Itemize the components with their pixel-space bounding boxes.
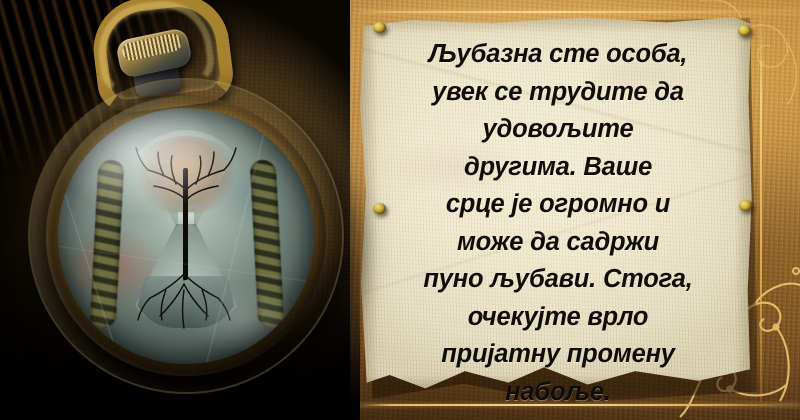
quote-line: пуно љубави. Стога, xyxy=(423,261,692,299)
quote-line: увек се трудите да xyxy=(432,74,684,112)
quote-line: може да садржи xyxy=(457,224,659,262)
quote-text-block: Љубазна сте особа, увек се трудите да уд… xyxy=(362,22,754,392)
quote-line: Љубазна сте особа, xyxy=(429,36,688,74)
pocket-watch xyxy=(6,0,352,420)
quote-line: пријатну промену xyxy=(441,336,675,374)
quote-line: набоље. xyxy=(505,374,611,412)
gold-horizontal-rule-top xyxy=(356,11,800,13)
watch-crystal xyxy=(58,108,314,364)
quote-line: удовољите xyxy=(483,111,634,149)
quote-line: другима. Ваше xyxy=(464,149,652,187)
crystal-glare xyxy=(58,108,314,364)
quote-image-canvas: Љубазна сте особа, увек се трудите да уд… xyxy=(0,0,800,420)
quote-line: срце је огромно и xyxy=(446,186,670,224)
quote-line: очекујте врло xyxy=(468,299,649,337)
gold-vertical-rule-right xyxy=(760,14,762,402)
